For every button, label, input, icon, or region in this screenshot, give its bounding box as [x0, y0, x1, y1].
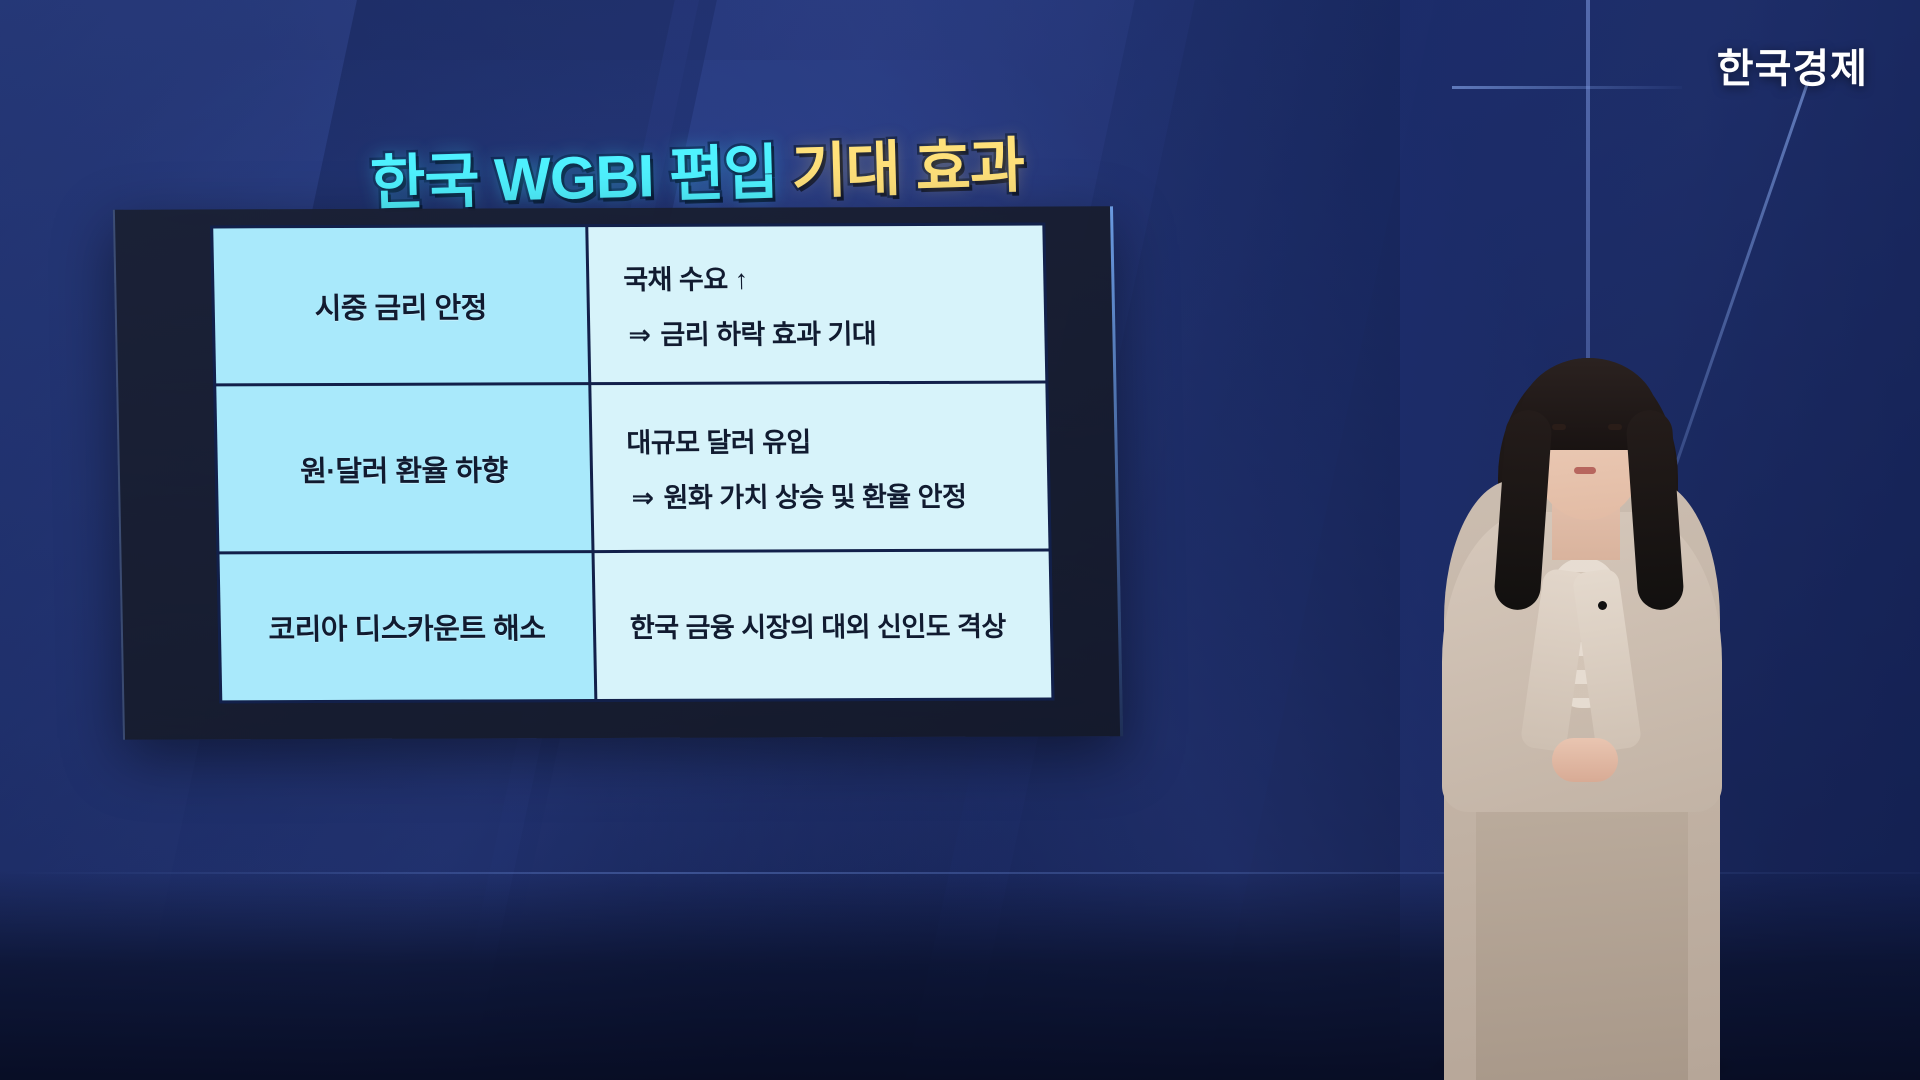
infographic-board: 시중 금리 안정 국채 수요 ↑ ⇒금리 하락 효과 기대 원·달러 환율 하향…	[113, 206, 1123, 739]
anchor-mouth	[1574, 467, 1596, 474]
anchor-hands	[1552, 738, 1618, 782]
anchor-eye-left	[1552, 424, 1566, 430]
news-anchor	[1402, 200, 1762, 1080]
arrow-icon: ⇒	[631, 482, 654, 513]
table-cell-description: 국채 수요 ↑ ⇒금리 하락 효과 기대	[588, 226, 1045, 383]
anchor-eye-right	[1608, 424, 1622, 430]
arrow-icon: ⇒	[628, 320, 651, 351]
effects-table: 시중 금리 안정 국채 수요 ↑ ⇒금리 하락 효과 기대 원·달러 환율 하향…	[210, 223, 1054, 704]
description-line-1: 국채 수요 ↑	[623, 256, 1010, 296]
table-cell-description: 대규모 달러 유입 ⇒원화 가치 상승 및 환율 안정	[591, 384, 1048, 550]
table-cell-label: 원·달러 환율 하향	[216, 385, 591, 551]
description-line-2-text: 금리 하락 효과 기대	[660, 319, 876, 350]
table-cell-label: 시중 금리 안정	[213, 227, 588, 384]
broadcast-stage: 한국경제 한국 WGBI 편입기대 효과 시중 금리 안정 국채 수요 ↑ ⇒금…	[0, 0, 1920, 1080]
studio-right-horizontal-line	[1452, 86, 1682, 89]
description-line-2-text: 원화 가치 상승 및 환율 안정	[663, 481, 966, 512]
description-line-2: ⇒원화 가치 상승 및 환율 안정	[627, 474, 1014, 514]
table-row: 시중 금리 안정 국채 수요 ↑ ⇒금리 하락 효과 기대	[213, 226, 1045, 384]
table-cell-label: 코리아 디스카운트 해소	[219, 553, 594, 700]
description-line-1: 한국 금융 시장의 대외 신인도 격상	[630, 605, 1017, 645]
table-row: 원·달러 환율 하향 대규모 달러 유입 ⇒원화 가치 상승 및 환율 안정	[216, 384, 1048, 551]
table-cell-description: 한국 금융 시장의 대외 신인도 격상	[595, 551, 1052, 699]
page-title-segment-accent: 기대 효과	[790, 117, 1025, 210]
description-line-2: ⇒금리 하락 효과 기대	[624, 311, 1011, 351]
table-row: 코리아 디스카운트 해소 한국 금융 시장의 대외 신인도 격상	[219, 551, 1051, 700]
channel-logo: 한국경제	[1717, 36, 1868, 94]
lapel-microphone-icon	[1598, 601, 1607, 610]
description-line-1: 대규모 달러 유입	[626, 419, 1013, 459]
